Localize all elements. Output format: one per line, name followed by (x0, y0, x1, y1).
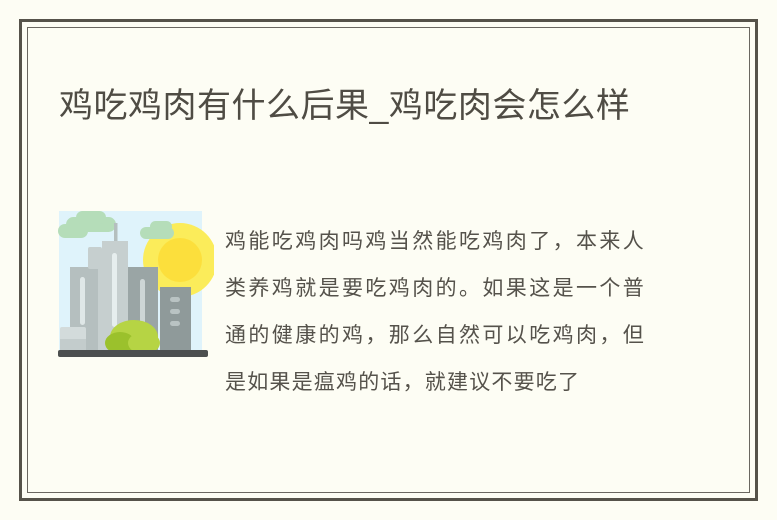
building-far-right (160, 287, 191, 351)
page-root: 鸡吃鸡肉有什么后果_鸡吃肉会怎么样 (0, 0, 777, 520)
building-small-block (88, 247, 102, 269)
sun-inner-core (158, 238, 202, 282)
building-far-right-window-1 (170, 297, 180, 302)
article-paragraph: 鸡能吃鸡肉吗鸡当然能吃鸡肉了，本来人类养鸡就是要吃鸡肉的。如果这是一个普通的健康… (225, 218, 645, 406)
cityscape-illustration (58, 205, 214, 365)
article-body: 鸡能吃鸡肉吗鸡当然能吃鸡肉了，本来人类养鸡就是要吃鸡肉的。如果这是一个普通的健康… (27, 197, 750, 457)
ground-bar (58, 350, 208, 357)
building-center-window (112, 253, 117, 327)
building-far-right-window-2 (170, 309, 180, 314)
page-title: 鸡吃鸡肉有什么后果_鸡吃肉会怎么样 (59, 82, 679, 131)
page-content: 鸡吃鸡肉有什么后果_鸡吃肉会怎么样 (27, 27, 750, 493)
building-foreground-low-band (60, 339, 86, 351)
building-far-right-window-3 (170, 321, 180, 326)
building-left-window (80, 277, 85, 325)
building-right-mid-window (140, 279, 145, 325)
